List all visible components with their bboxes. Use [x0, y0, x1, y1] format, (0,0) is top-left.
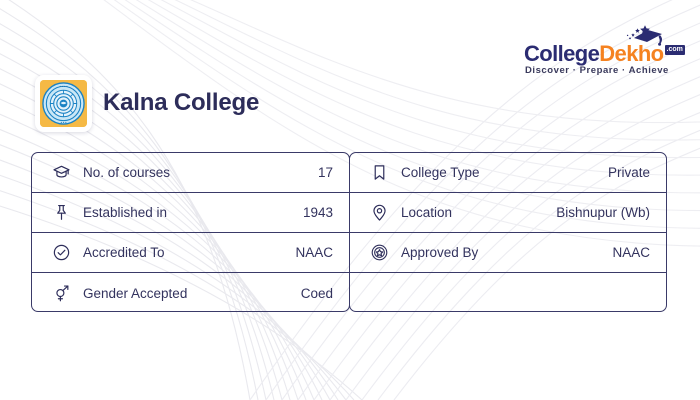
award-star-icon: [370, 242, 392, 264]
svg-text:● ● ● ●: ● ● ● ●: [59, 85, 68, 88]
row-label: College Type: [392, 165, 608, 180]
graduation-cap-icon: [52, 162, 74, 184]
row-value: NAAC: [612, 245, 650, 260]
row-label: Gender Accepted: [74, 286, 301, 301]
row-value: 1943: [303, 205, 333, 220]
page-title: Kalna College: [103, 88, 259, 118]
row-value: Bishnupur (Wb): [556, 205, 650, 220]
row-value: 17: [318, 165, 333, 180]
brand-wordmark: CollegeDekho.com: [524, 42, 674, 66]
row-label: No. of courses: [74, 165, 318, 180]
table-row-empty: [350, 273, 666, 312]
table-row[interactable]: Approved By NAAC: [350, 233, 666, 273]
card-header: ● ● ● ● ● ● ● Kalna College CollegeDekho…: [0, 0, 700, 150]
info-table-left: No. of courses 17 Established in 1943: [31, 152, 350, 312]
row-value: Coed: [301, 286, 333, 301]
table-row[interactable]: Established in 1943: [32, 193, 349, 233]
gender-icon: [52, 282, 74, 304]
bookmark-icon: [370, 162, 392, 184]
brand-name-suffix: .com: [665, 45, 685, 55]
table-row[interactable]: Accredited To NAAC: [32, 233, 349, 273]
map-pin-icon: [370, 202, 392, 224]
row-label: Location: [392, 205, 556, 220]
table-row[interactable]: Location Bishnupur (Wb): [350, 193, 666, 233]
brand-name-part2: Dekho: [599, 41, 663, 66]
brand-logo[interactable]: CollegeDekho.com Discover · Prepare · Ac…: [524, 26, 674, 78]
table-row[interactable]: Gender Accepted Coed: [32, 273, 349, 312]
pin-icon: [52, 202, 74, 224]
table-row[interactable]: No. of courses 17: [32, 153, 349, 193]
row-label: Approved By: [392, 245, 612, 260]
svg-text:● ● ●: ● ● ●: [61, 121, 67, 124]
brand-name-part1: College: [524, 41, 599, 66]
table-row[interactable]: College Type Private: [350, 153, 666, 193]
info-table-right: College Type Private Location Bishnupur …: [349, 152, 667, 312]
row-value: NAAC: [295, 245, 333, 260]
college-info-card: ● ● ● ● ● ● ● Kalna College CollegeDekho…: [0, 0, 700, 400]
row-label: Established in: [74, 205, 303, 220]
brand-tagline: Discover · Prepare · Achieve: [525, 65, 675, 76]
college-logo: ● ● ● ● ● ● ●: [35, 75, 92, 132]
row-value: Private: [608, 165, 650, 180]
college-seal-icon: ● ● ● ● ● ● ●: [40, 80, 87, 127]
row-label: Accredited To: [74, 245, 295, 260]
check-circle-icon: [52, 242, 74, 264]
